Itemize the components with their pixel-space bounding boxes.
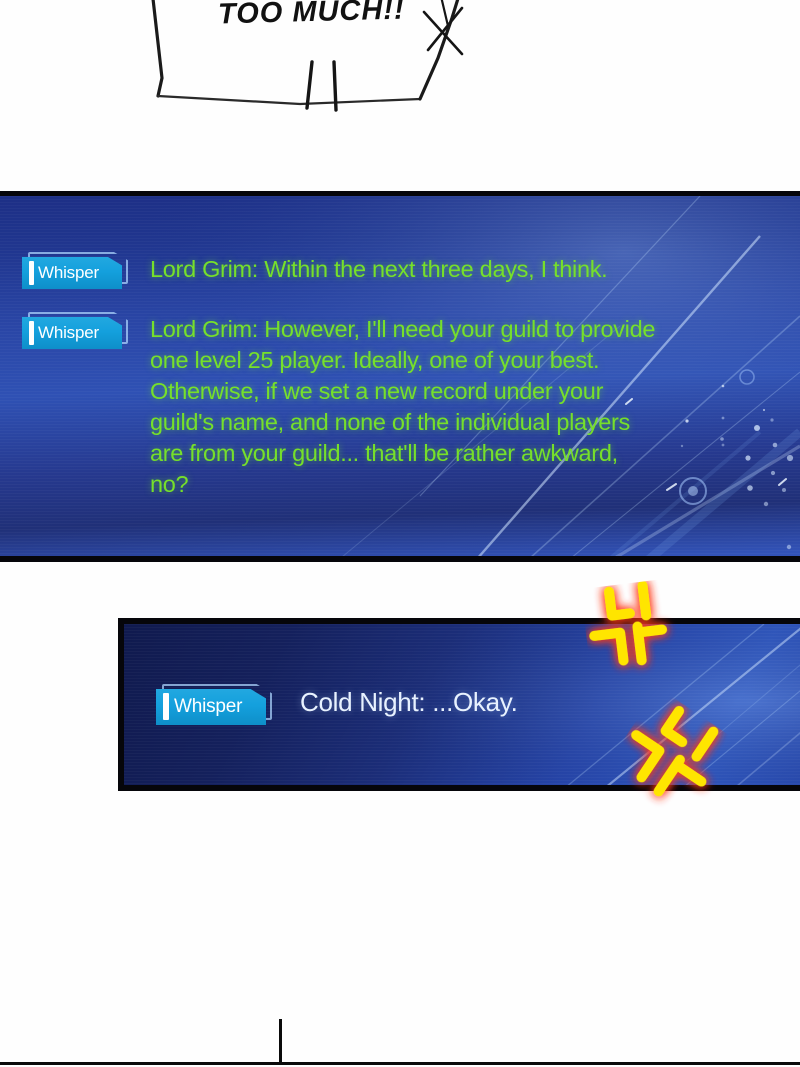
whisper-badge-body: Whisper	[22, 317, 122, 349]
chat-panel-two: Whisper Cold Night: ...Okay.	[118, 618, 800, 791]
whisper-badge-label: Whisper	[38, 323, 99, 343]
whisper-badge-bar-icon	[29, 321, 34, 345]
chat-message-text: Cold Night: ...Okay.	[300, 686, 518, 718]
bottom-panel-vertical-line	[279, 1019, 282, 1063]
chat-message-text: Lord Grim: However, I'll need your guild…	[150, 314, 655, 500]
bottom-panel-horizontal-line	[0, 1062, 800, 1065]
chat-message-text: Lord Grim: Within the next three days, I…	[150, 254, 607, 285]
bubble-shout-text: TOO MUCH!!	[218, 0, 405, 31]
whisper-badge-body: Whisper	[156, 689, 266, 725]
whisper-badge-label: Whisper	[174, 696, 242, 718]
whisper-badge[interactable]: Whisper	[22, 257, 122, 289]
whisper-badge-bar-icon	[29, 261, 34, 285]
chat-panel-one: Whisper Lord Grim: Within the next three…	[0, 191, 800, 562]
whisper-badge-label: Whisper	[38, 263, 99, 283]
shout-bubble-fragment: TOO MUCH!!	[0, 0, 520, 140]
whisper-badge[interactable]: Whisper	[22, 317, 122, 349]
whisper-badge-bar-icon	[163, 693, 169, 720]
whisper-badge-body: Whisper	[22, 257, 122, 289]
chat-message-row: Whisper Lord Grim: Within the next three…	[22, 254, 607, 289]
whisper-badge[interactable]: Whisper	[156, 689, 266, 725]
chat-message-row: Whisper Lord Grim: However, I'll need yo…	[22, 314, 655, 500]
chat-message-row: Whisper Cold Night: ...Okay.	[156, 686, 518, 725]
